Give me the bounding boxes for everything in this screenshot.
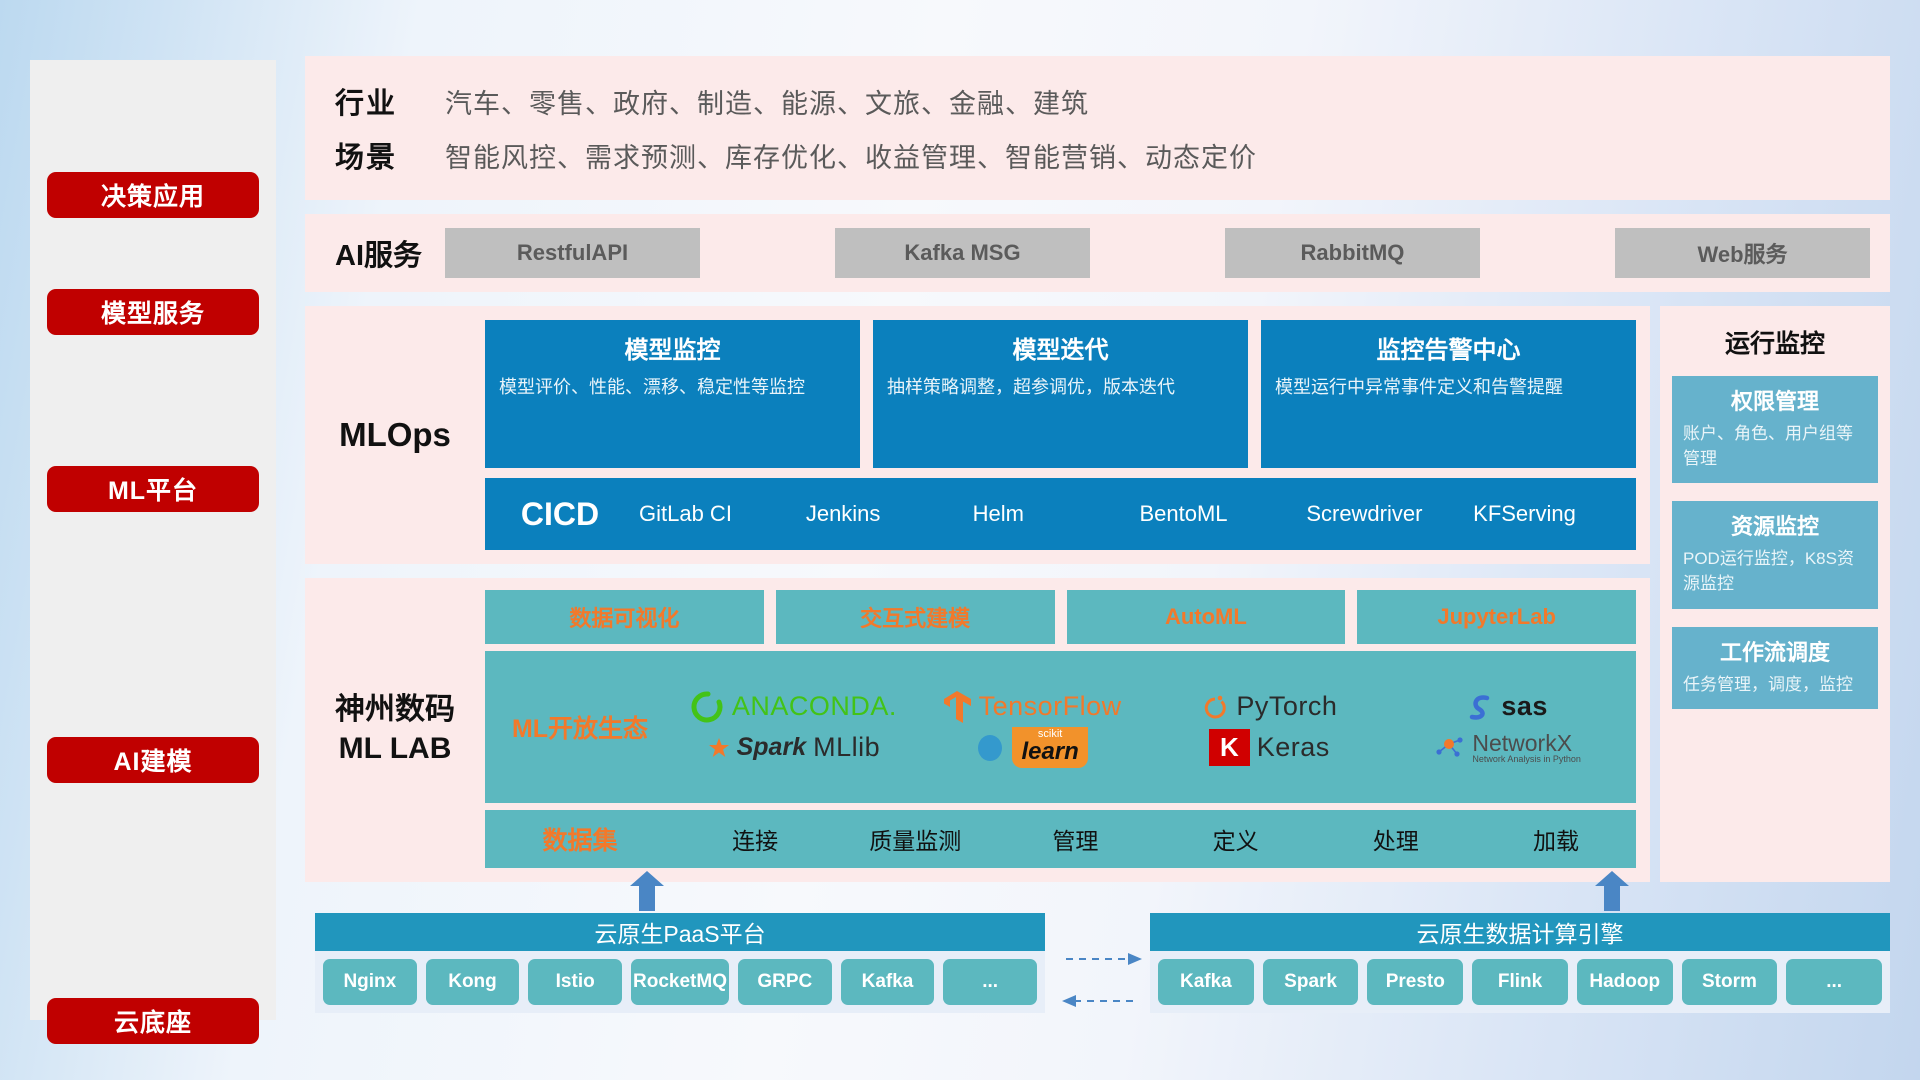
layer-rail: 决策应用 模型服务 ML平台 AI建模 云底座 bbox=[30, 60, 276, 1020]
cicd-title: CICD bbox=[485, 496, 635, 533]
cicd-item-bentoml[interactable]: BentoML bbox=[1135, 502, 1302, 525]
cicd-row: CICD GitLab CI Jenkins Helm BentoML Scre… bbox=[485, 478, 1636, 550]
scenario-key: 场景 bbox=[305, 134, 445, 176]
rail-item-ml-platform[interactable]: ML平台 bbox=[47, 466, 259, 512]
arrow-up-paas-icon bbox=[630, 871, 664, 911]
spark-star-icon bbox=[708, 737, 730, 759]
rail-label: ML平台 bbox=[108, 471, 198, 507]
data-engine-chips: Kafka Spark Presto Flink Hadoop Storm ..… bbox=[1150, 951, 1890, 1013]
ai-service-label: AI服务 bbox=[305, 232, 445, 274]
engine-chip-storm[interactable]: Storm bbox=[1682, 959, 1778, 1005]
engine-chip-more[interactable]: ... bbox=[1786, 959, 1882, 1005]
keras-logo: K Keras bbox=[1209, 729, 1330, 766]
card-desc: 任务管理，调度，监控 bbox=[1683, 673, 1867, 698]
cicd-item-screwdriver[interactable]: Screwdriver bbox=[1302, 502, 1469, 525]
sas-wordmark: sas bbox=[1501, 691, 1548, 722]
industry-value: 汽车、零售、政府、制造、能源、文旅、金融、建筑 bbox=[445, 82, 1089, 121]
dataset-item-manage[interactable]: 管理 bbox=[995, 822, 1155, 856]
networkx-logo: NetworkX Network Analysis in Python bbox=[1433, 731, 1581, 765]
monitor-card-permissions[interactable]: 权限管理 账户、角色、用户组等管理 bbox=[1672, 376, 1878, 483]
tensorflow-mark-icon bbox=[942, 689, 972, 725]
engine-chip-kafka[interactable]: Kafka bbox=[1158, 959, 1254, 1005]
card-title: 权限管理 bbox=[1683, 384, 1867, 416]
card-desc: 模型运行中异常事件定义和告警提醒 bbox=[1275, 374, 1622, 400]
industry-key: 行业 bbox=[305, 80, 445, 122]
mlops-label: MLOps bbox=[305, 320, 485, 550]
sas-mark-icon bbox=[1466, 691, 1494, 723]
anaconda-wordmark: ANACONDA. bbox=[732, 691, 897, 722]
networkx-wordmark: NetworkX bbox=[1472, 731, 1581, 755]
card-title: 资源监控 bbox=[1683, 509, 1867, 541]
engine-chip-spark[interactable]: Spark bbox=[1263, 959, 1359, 1005]
card-title: 工作流调度 bbox=[1683, 635, 1867, 667]
paas-chip-istio[interactable]: Istio bbox=[528, 959, 622, 1005]
spark-mllib-logo: Spark MLlib bbox=[708, 732, 881, 763]
ai-service-band: AI服务 RestfulAPI Kafka MSG RabbitMQ Web服务 bbox=[305, 214, 1890, 292]
scenario-value: 智能风控、需求预测、库存优化、收益管理、智能营销、动态定价 bbox=[445, 136, 1257, 175]
mllib-wordmark: MLlib bbox=[813, 732, 880, 763]
data-engine-column: 云原生数据计算引擎 Kafka Spark Presto Flink Hadoo… bbox=[1150, 913, 1890, 1013]
spark-wordmark: Spark bbox=[737, 733, 806, 762]
ml-lab-tabs: 数据可视化 交互式建模 AutoML JupyterLab bbox=[485, 590, 1636, 644]
dataset-item-quality-monitor[interactable]: 质量监测 bbox=[835, 822, 995, 856]
learn-word: learn bbox=[1021, 740, 1078, 764]
cloud-foundation: 云原生PaaS平台 Nginx Kong Istio RocketMQ GRPC… bbox=[305, 893, 1890, 1053]
mlops-band: MLOps 模型监控 模型评价、性能、漂移、稳定性等监控 模型迭代 抽样策略调整… bbox=[305, 306, 1650, 564]
paas-chip-grpc[interactable]: GRPC bbox=[738, 959, 832, 1005]
paas-chip-nginx[interactable]: Nginx bbox=[323, 959, 417, 1005]
card-title: 模型迭代 bbox=[887, 330, 1234, 365]
monitor-card-resources[interactable]: 资源监控 POD运行监控，K8S资源监控 bbox=[1672, 501, 1878, 608]
mlops-card-model-iteration[interactable]: 模型迭代 抽样策略调整，超参调优，版本迭代 bbox=[873, 320, 1248, 468]
tab-data-visualization[interactable]: 数据可视化 bbox=[485, 590, 764, 644]
data-engine-title: 云原生数据计算引擎 bbox=[1150, 913, 1890, 951]
card-desc: POD运行监控，K8S资源监控 bbox=[1683, 547, 1867, 596]
cicd-item-jenkins[interactable]: Jenkins bbox=[802, 502, 969, 525]
scenario-row: 场景 智能风控、需求预测、库存优化、收益管理、智能营销、动态定价 bbox=[305, 128, 1890, 182]
dataset-item-define[interactable]: 定义 bbox=[1156, 822, 1316, 856]
runtime-monitoring-panel: 运行监控 权限管理 账户、角色、用户组等管理 资源监控 POD运行监控，K8S资… bbox=[1660, 306, 1890, 882]
ai-chip-rabbitmq[interactable]: RabbitMQ bbox=[1225, 228, 1480, 278]
engine-chip-flink[interactable]: Flink bbox=[1472, 959, 1568, 1005]
networkx-graph-icon bbox=[1433, 732, 1465, 762]
spacer bbox=[305, 292, 1890, 306]
ai-chip-web-service[interactable]: Web服务 bbox=[1615, 228, 1870, 278]
ai-chip-restfulapi[interactable]: RestfulAPI bbox=[445, 228, 700, 278]
engine-chip-hadoop[interactable]: Hadoop bbox=[1577, 959, 1673, 1005]
anaconda-logo: ANACONDA. bbox=[691, 690, 897, 724]
keras-mark-icon: K bbox=[1209, 729, 1250, 766]
rail-label: 决策应用 bbox=[101, 177, 205, 213]
keras-wordmark: Keras bbox=[1257, 732, 1330, 763]
ml-ecosystem-label: ML开放生态 bbox=[485, 709, 675, 745]
industry-row: 行业 汽车、零售、政府、制造、能源、文旅、金融、建筑 bbox=[305, 74, 1890, 128]
platform-and-monitoring: MLOps 模型监控 模型评价、性能、漂移、稳定性等监控 模型迭代 抽样策略调整… bbox=[305, 306, 1890, 882]
tab-jupyterlab[interactable]: JupyterLab bbox=[1357, 590, 1636, 644]
ai-chip-kafka-msg[interactable]: Kafka MSG bbox=[835, 228, 1090, 278]
pytorch-logo: PyTorch bbox=[1201, 691, 1337, 723]
rail-item-model-service[interactable]: 模型服务 bbox=[47, 289, 259, 335]
pytorch-mark-icon bbox=[1201, 691, 1229, 723]
runtime-monitoring-title: 运行监控 bbox=[1672, 324, 1878, 360]
ai-service-chips: RestfulAPI Kafka MSG RabbitMQ Web服务 bbox=[445, 228, 1890, 278]
ml-lab-label-line2: ML LAB bbox=[335, 729, 455, 768]
cicd-item-helm[interactable]: Helm bbox=[969, 502, 1136, 525]
ml-lab-label-line1: 神州数码 bbox=[335, 690, 455, 729]
monitor-card-workflow[interactable]: 工作流调度 任务管理，调度，监控 bbox=[1672, 627, 1878, 710]
scikit-blue-blob-icon bbox=[975, 733, 1005, 763]
card-title: 模型监控 bbox=[499, 330, 846, 365]
paas-chip-rocketmq[interactable]: RocketMQ bbox=[631, 959, 729, 1005]
tensorflow-wordmark: TensorFlow bbox=[979, 691, 1122, 722]
rail-label: AI建模 bbox=[113, 742, 192, 778]
card-desc: 抽样策略调整，超参调优，版本迭代 bbox=[887, 374, 1234, 400]
dataset-item-connect[interactable]: 连接 bbox=[675, 822, 835, 856]
arrow-up-data-engine-icon bbox=[1595, 871, 1629, 911]
scikit-learn-badge: scikit learn bbox=[1012, 727, 1087, 768]
anaconda-mark-icon bbox=[691, 690, 725, 724]
paas-chip-more[interactable]: ... bbox=[943, 959, 1037, 1005]
ml-ecosystem-row: ML开放生态 ANACONDA. bbox=[485, 651, 1636, 803]
networkx-tagline: Network Analysis in Python bbox=[1472, 755, 1581, 764]
ml-ecosystem-logos: ANACONDA. TensorFlow bbox=[675, 686, 1636, 768]
dataset-item-load[interactable]: 加载 bbox=[1476, 822, 1636, 856]
card-title: 监控告警中心 bbox=[1275, 330, 1622, 365]
paas-column: 云原生PaaS平台 Nginx Kong Istio RocketMQ GRPC… bbox=[315, 913, 1045, 1013]
sas-logo: sas bbox=[1466, 691, 1548, 723]
architecture-diagram: 决策应用 模型服务 ML平台 AI建模 云底座 行业 汽车、零售、政府、制造、能… bbox=[0, 0, 1920, 1080]
cicd-items: GitLab CI Jenkins Helm BentoML Screwdriv… bbox=[635, 502, 1636, 525]
cicd-item-kfserving[interactable]: KFServing bbox=[1469, 502, 1636, 525]
mlops-card-alert-center[interactable]: 监控告警中心 模型运行中异常事件定义和告警提醒 bbox=[1261, 320, 1636, 468]
rail-item-cloud-base[interactable]: 云底座 bbox=[47, 998, 259, 1044]
rail-label: 云底座 bbox=[114, 1003, 192, 1039]
main-stack: 行业 汽车、零售、政府、制造、能源、文旅、金融、建筑 场景 智能风控、需求预测、… bbox=[305, 56, 1890, 882]
tab-automl[interactable]: AutoML bbox=[1067, 590, 1346, 644]
mlops-card-model-monitoring[interactable]: 模型监控 模型评价、性能、漂移、稳定性等监控 bbox=[485, 320, 860, 468]
ml-lab-band: 神州数码 ML LAB 数据可视化 交互式建模 AutoML JupyterLa… bbox=[305, 578, 1650, 882]
paas-title: 云原生PaaS平台 bbox=[315, 913, 1045, 951]
rail-item-decision-app[interactable]: 决策应用 bbox=[47, 172, 259, 218]
spacer bbox=[305, 200, 1890, 214]
rail-item-ai-modeling[interactable]: AI建模 bbox=[47, 737, 259, 783]
pytorch-wordmark: PyTorch bbox=[1236, 691, 1337, 722]
bidirectional-dashed-link-icon bbox=[1062, 949, 1142, 1011]
tab-interactive-modeling[interactable]: 交互式建模 bbox=[776, 590, 1055, 644]
ml-lab-label: 神州数码 ML LAB bbox=[305, 590, 485, 868]
dataset-row: 数据集 连接 质量监测 管理 定义 处理 加载 bbox=[485, 810, 1636, 868]
cicd-item-gitlab-ci[interactable]: GitLab CI bbox=[635, 502, 802, 525]
scikit-learn-logo: scikit learn bbox=[975, 727, 1087, 768]
dataset-item-process[interactable]: 处理 bbox=[1316, 822, 1476, 856]
rail-label: 模型服务 bbox=[101, 294, 205, 330]
card-desc: 模型评价、性能、漂移、稳定性等监控 bbox=[499, 374, 846, 400]
engine-chip-presto[interactable]: Presto bbox=[1367, 959, 1463, 1005]
industry-scenario-band: 行业 汽车、零售、政府、制造、能源、文旅、金融、建筑 场景 智能风控、需求预测、… bbox=[305, 56, 1890, 200]
spacer bbox=[305, 564, 1650, 578]
dataset-label: 数据集 bbox=[485, 821, 675, 857]
paas-chip-kafka[interactable]: Kafka bbox=[841, 959, 935, 1005]
tensorflow-logo: TensorFlow bbox=[942, 689, 1122, 725]
paas-chips: Nginx Kong Istio RocketMQ GRPC Kafka ... bbox=[315, 951, 1045, 1013]
card-desc: 账户、角色、用户组等管理 bbox=[1683, 422, 1867, 471]
mlops-cards: 模型监控 模型评价、性能、漂移、稳定性等监控 模型迭代 抽样策略调整，超参调优，… bbox=[485, 320, 1636, 468]
dataset-items: 连接 质量监测 管理 定义 处理 加载 bbox=[675, 822, 1636, 856]
paas-chip-kong[interactable]: Kong bbox=[426, 959, 520, 1005]
